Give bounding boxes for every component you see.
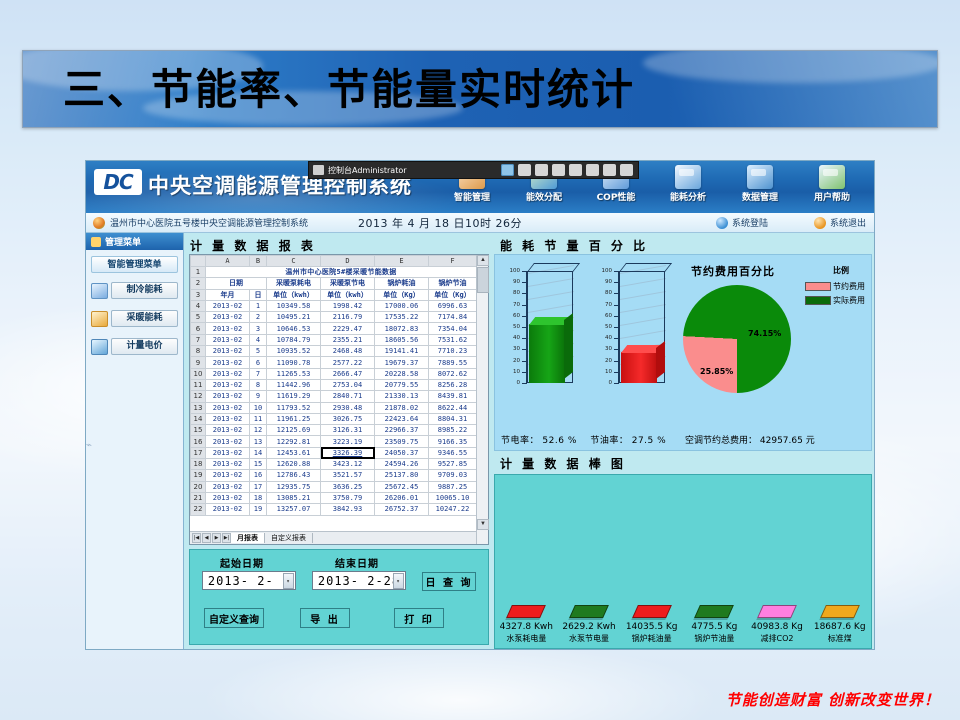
app-logo: DC xyxy=(94,169,142,195)
system-login-button[interactable]: 系统登陆 xyxy=(716,216,768,229)
total-savings-annotation: 空调节约总费用： 42957.65 元 xyxy=(685,433,815,446)
table-row: 182013-021512620.883423.1224594.269527.8… xyxy=(191,459,477,470)
footer-slogan: 节能创造财富 创新改变世界！ xyxy=(726,689,940,710)
cell-pump-save[interactable]: 3223.19 xyxy=(321,436,375,447)
cell-boiler-save[interactable]: 9166.35 xyxy=(429,436,477,447)
metric-value-3: 4775.5 Kg xyxy=(683,622,746,632)
cell-day[interactable]: 1 xyxy=(250,300,267,311)
cell-pump-consume[interactable]: 10349.58 xyxy=(267,300,321,311)
metric-bar-2 xyxy=(632,605,672,618)
axis-tick-70: 70 xyxy=(599,302,612,308)
row-header-13[interactable]: 13 xyxy=(191,402,206,413)
sidebar-item-label-2: 计量电价 xyxy=(111,338,178,355)
login-icon xyxy=(716,217,728,229)
cell-boiler-save[interactable]: 9346.55 xyxy=(429,447,477,458)
row-header-1[interactable]: 1 xyxy=(191,267,206,278)
row-header-8[interactable]: 8 xyxy=(191,346,206,357)
axis-tick-50: 50 xyxy=(507,324,520,330)
cell-yearmonth[interactable]: 2013-02 xyxy=(206,357,250,368)
table-row: 72013-02410784.792355.2118605.567531.62 xyxy=(191,334,477,345)
monitor-view-icon[interactable] xyxy=(501,164,514,176)
cell-yearmonth[interactable]: 2013-02 xyxy=(206,368,250,379)
sidebar-item-label-1: 采暖能耗 xyxy=(111,310,178,327)
cell-boiler-save[interactable]: 7531.62 xyxy=(429,334,477,345)
cell-yearmonth[interactable]: 2013-02 xyxy=(206,447,250,458)
cell-yearmonth[interactable]: 2013-02 xyxy=(206,425,250,436)
fullscreen-icon[interactable] xyxy=(603,164,616,176)
electric-rate-label: 节电率： xyxy=(501,436,539,446)
slide-title-banner: 三、节能率、节能量实时统计 xyxy=(22,50,938,128)
cell-boiler-save[interactable]: 8256.28 xyxy=(429,379,477,390)
sheet-tab-custom[interactable]: 自定义报表 xyxy=(265,533,313,543)
percentage-charts-panel: 1009080706050403020100 10090807 xyxy=(494,254,872,451)
axis-tick-30: 30 xyxy=(599,346,612,352)
cell-boiler-save[interactable]: 8622.44 xyxy=(429,402,477,413)
end-date-label: 结束日期 xyxy=(335,555,379,570)
cell-day[interactable]: 2 xyxy=(250,312,267,323)
cell-day[interactable]: 18 xyxy=(250,492,267,503)
app-header: DC 中央空调能源管理控制系统 智能管理 能效分配 COP性能 能耗分析 xyxy=(86,161,874,213)
start-date-label: 起始日期 xyxy=(220,555,264,570)
cell-pump-save[interactable]: 2116.79 xyxy=(321,312,375,323)
heating-icon xyxy=(91,311,108,327)
legend-swatch-actual xyxy=(805,296,831,305)
cell-boiler-consume[interactable]: 26752.37 xyxy=(375,504,429,515)
cell-boiler-consume[interactable]: 17000.06 xyxy=(375,300,429,311)
cell-pump-save[interactable]: 3326.39 xyxy=(321,447,375,458)
end-date-value: 2013- 2-28 xyxy=(318,574,400,588)
end-date-input[interactable]: 2013- 2-28 ▾ xyxy=(312,571,406,590)
hdr-unit-e: 单位（Kg） xyxy=(375,289,429,300)
cell-boiler-save[interactable]: 6996.63 xyxy=(429,300,477,311)
cell-pump-consume[interactable]: 13085.21 xyxy=(267,492,321,503)
cell-yearmonth[interactable]: 2013-02 xyxy=(206,391,250,402)
next-sheet-icon[interactable]: ▶ xyxy=(212,533,221,543)
legend-label-actual: 实际费用 xyxy=(833,295,865,306)
pie-label-actual: 74.15% xyxy=(748,329,781,338)
user-help-icon xyxy=(819,165,845,189)
mouse-icon[interactable] xyxy=(518,164,531,176)
metric-bar-3 xyxy=(694,605,734,618)
sheet-tab-monthly[interactable]: 月报表 xyxy=(231,533,265,543)
cell-pump-consume[interactable]: 10646.53 xyxy=(267,323,321,334)
cell-pump-save[interactable]: 3636.25 xyxy=(321,481,375,492)
console-toolbar[interactable]: 控制台Administrator xyxy=(308,161,639,179)
cell-day[interactable]: 6 xyxy=(250,357,267,368)
scroll-thumb[interactable] xyxy=(477,267,489,293)
cell-day[interactable]: 3 xyxy=(250,323,267,334)
cell-pump-save[interactable]: 2840.71 xyxy=(321,391,375,402)
cell-boiler-consume[interactable]: 21330.13 xyxy=(375,391,429,402)
metering-bar-panel: 4327.8 Kwh水泵耗电量2629.2 Kwh水泵节电量14035.5 Kg… xyxy=(494,474,872,649)
nav-item-user-help[interactable]: 用户帮助 xyxy=(796,163,868,203)
bar1-front xyxy=(529,324,565,383)
cell-boiler-consume[interactable]: 24050.37 xyxy=(375,447,429,458)
row-header-5[interactable]: 5 xyxy=(191,312,206,323)
metric-item: 14035.5 Kg锅炉耗油量 xyxy=(620,605,683,644)
cell-pump-consume[interactable]: 11090.78 xyxy=(267,357,321,368)
scroll-up-arrow[interactable]: ▲ xyxy=(477,255,489,266)
sidebar-item-cooling[interactable]: 制冷能耗 xyxy=(91,282,178,299)
print-button[interactable]: 打 印 xyxy=(394,608,444,628)
cell-day[interactable]: 11 xyxy=(250,413,267,424)
bottom-panel-title: 计 量 数 据 棒 图 xyxy=(500,455,626,472)
logout-label: 系统退出 xyxy=(830,216,866,229)
row-header-7[interactable]: 7 xyxy=(191,334,206,345)
cell-pump-consume[interactable]: 12620.88 xyxy=(267,459,321,470)
hdr-unit-d: 单位（kwh） xyxy=(321,289,375,300)
hdr-boiler-save: 锅炉节油 xyxy=(429,278,477,289)
legend-item-saving: 节约费用 xyxy=(805,281,865,292)
nav-label-5: 用户帮助 xyxy=(796,190,868,203)
cell-pump-save[interactable]: 2468.48 xyxy=(321,346,375,357)
row-header-10[interactable]: 10 xyxy=(191,368,206,379)
cell-yearmonth[interactable]: 2013-02 xyxy=(206,346,250,357)
system-logout-button[interactable]: 系统退出 xyxy=(814,216,866,229)
table-row: 42013-02110349.581998.4217000.066996.63 xyxy=(191,300,477,311)
bar1-side xyxy=(564,313,573,379)
col-letter-b[interactable]: B xyxy=(250,256,267,267)
axis-tick-80: 80 xyxy=(507,290,520,296)
spreadsheet[interactable]: A B C D E F 1 温州市中心医院5#楼采暖节能数据 2 xyxy=(189,254,489,545)
page-title: 三、节能率、节能量实时统计 xyxy=(23,51,937,128)
nav-label-2: COP性能 xyxy=(580,190,652,203)
cell-pump-save[interactable]: 2666.47 xyxy=(321,368,375,379)
system-datetime: 2013 年 4 月 18 日10时 26分 xyxy=(358,215,522,231)
system-ball-icon xyxy=(93,217,105,229)
metric-item: 18687.6 Kg标准煤 xyxy=(808,605,871,644)
cell-yearmonth[interactable]: 2013-02 xyxy=(206,379,250,390)
first-sheet-icon[interactable]: |◀ xyxy=(192,533,201,543)
cell-pump-consume[interactable]: 11961.25 xyxy=(267,413,321,424)
cell-boiler-consume[interactable]: 19679.37 xyxy=(375,357,429,368)
cell-pump-save[interactable]: 3750.79 xyxy=(321,492,375,503)
row-header-16[interactable]: 16 xyxy=(191,436,206,447)
cell-pump-consume[interactable]: 12453.61 xyxy=(267,447,321,458)
metric-item: 40983.8 Kg减排CO2 xyxy=(746,605,809,644)
axis-tick-0: 0 xyxy=(599,380,612,386)
metric-value-5: 18687.6 Kg xyxy=(808,622,871,632)
scroll-down-arrow[interactable]: ▼ xyxy=(477,519,489,530)
oil-rate-unit: % xyxy=(657,436,666,446)
cell-pump-save[interactable]: 3026.75 xyxy=(321,413,375,424)
cell-boiler-consume[interactable]: 18605.56 xyxy=(375,334,429,345)
metric-value-4: 40983.8 Kg xyxy=(746,622,809,632)
export-button[interactable]: 导 出 xyxy=(300,608,350,628)
cell-boiler-save[interactable]: 7174.84 xyxy=(429,312,477,323)
cell-pump-consume[interactable]: 12292.81 xyxy=(267,436,321,447)
table-row: 192013-021612786.433521.5725137.809709.0… xyxy=(191,470,477,481)
cell-boiler-consume[interactable]: 25137.80 xyxy=(375,470,429,481)
total-savings-value: 42957.65 xyxy=(760,436,803,446)
table-row: 132013-021011793.522930.4821878.028622.4… xyxy=(191,402,477,413)
cell-pump-save[interactable]: 3842.93 xyxy=(321,504,375,515)
rate-annotations: 节电率： 52.6 % 节油率： 27.5 % xyxy=(501,433,666,446)
last-sheet-icon[interactable]: ▶| xyxy=(222,533,231,543)
metric-caption-5: 标准煤 xyxy=(808,633,871,644)
legend-label-saving: 节约费用 xyxy=(833,281,865,292)
axis-tick-40: 40 xyxy=(507,335,520,341)
cell-day[interactable]: 7 xyxy=(250,368,267,379)
metric-bar-5 xyxy=(820,605,860,618)
axis-tick-90: 90 xyxy=(507,279,520,285)
col-letter-d[interactable]: D xyxy=(321,256,375,267)
report-table: A B C D E F 1 温州市中心医院5#楼采暖节能数据 2 xyxy=(190,255,477,516)
metric-caption-2: 锅炉耗油量 xyxy=(620,633,683,644)
cell-day[interactable]: 8 xyxy=(250,379,267,390)
cell-day[interactable]: 5 xyxy=(250,346,267,357)
speaker-icon[interactable] xyxy=(620,164,633,176)
cell-day[interactable]: 14 xyxy=(250,447,267,458)
custom-query-button[interactable]: 自定义查询 xyxy=(204,608,264,628)
hdr-pump-consume: 采暖泵耗电 xyxy=(267,278,321,289)
row-header-3[interactable]: 3 xyxy=(191,289,206,300)
cell-yearmonth[interactable]: 2013-02 xyxy=(206,402,250,413)
cell-boiler-consume[interactable]: 23509.75 xyxy=(375,436,429,447)
cell-pump-save[interactable]: 3423.12 xyxy=(321,459,375,470)
cell-boiler-save[interactable]: 8439.81 xyxy=(429,391,477,402)
charts-panel-title: 能 耗 节 量 百 分 比 xyxy=(494,233,874,256)
cell-day[interactable]: 9 xyxy=(250,391,267,402)
move-icon[interactable] xyxy=(569,164,582,176)
cell-boiler-save[interactable]: 7889.55 xyxy=(429,357,477,368)
table-row: 202013-021712935.753636.2525672.459887.2… xyxy=(191,481,477,492)
row-header-17[interactable]: 17 xyxy=(191,447,206,458)
cell-day[interactable]: 15 xyxy=(250,459,267,470)
table-row: 1 温州市中心医院5#楼采暖节能数据 xyxy=(191,267,477,278)
cell-yearmonth[interactable]: 2013-02 xyxy=(206,504,250,515)
prev-sheet-icon[interactable]: ◀ xyxy=(202,533,211,543)
legend-item-actual: 实际费用 xyxy=(805,295,865,306)
cell-boiler-consume[interactable]: 18072.83 xyxy=(375,323,429,334)
cell-boiler-consume[interactable]: 26206.01 xyxy=(375,492,429,503)
spreadsheet-vertical-scrollbar[interactable]: ▲ ▼ xyxy=(476,255,488,544)
sidebar-item-metering-price[interactable]: 计量电价 xyxy=(91,338,178,355)
bar2-frame-top xyxy=(619,263,672,272)
metric-caption-1: 水泵节电量 xyxy=(558,633,621,644)
cell-boiler-save[interactable]: 10065.10 xyxy=(429,492,477,503)
start-date-spinner-icon[interactable]: ▾ xyxy=(283,573,294,589)
cell-boiler-save[interactable]: 8804.31 xyxy=(429,413,477,424)
nav-label-0: 智能管理 xyxy=(436,190,508,203)
nav-label-3: 能耗分析 xyxy=(652,190,724,203)
table-row: 142013-021111961.253026.7522423.648804.3… xyxy=(191,413,477,424)
row-header-19[interactable]: 19 xyxy=(191,470,206,481)
cell-yearmonth[interactable]: 2013-02 xyxy=(206,459,250,470)
row-header-9[interactable]: 9 xyxy=(191,357,206,368)
row-header-21[interactable]: 21 xyxy=(191,492,206,503)
status-strip: 温州市中心医院五号楼中央空调能源管理控制系统 2013 年 4 月 18 日10… xyxy=(86,213,874,233)
cell-boiler-consume[interactable]: 20228.58 xyxy=(375,368,429,379)
cell-boiler-save[interactable]: 8985.22 xyxy=(429,425,477,436)
metric-bar-1 xyxy=(569,605,609,618)
cell-boiler-consume[interactable]: 17535.22 xyxy=(375,312,429,323)
cell-pump-save[interactable]: 2577.22 xyxy=(321,357,375,368)
cell-boiler-save[interactable]: 8072.62 xyxy=(429,368,477,379)
sidebar-header-label: 管理菜单 xyxy=(105,235,141,248)
cell-yearmonth[interactable]: 2013-02 xyxy=(206,300,250,311)
bar1-frame-top xyxy=(527,263,580,272)
cell-boiler-consume[interactable]: 22966.37 xyxy=(375,425,429,436)
sheet-tab-bar: |◀ ◀ ▶ ▶| 月报表 自定义报表 xyxy=(190,531,476,544)
console-title: 控制台Administrator xyxy=(328,165,407,176)
cell-pump-consume[interactable]: 10935.52 xyxy=(267,346,321,357)
table-row: 162013-021312292.813223.1923509.759166.3… xyxy=(191,436,477,447)
row-header-15[interactable]: 15 xyxy=(191,425,206,436)
row-header-4[interactable]: 4 xyxy=(191,300,206,311)
cell-boiler-save[interactable]: 9709.03 xyxy=(429,470,477,481)
cell-boiler-consume[interactable]: 25672.45 xyxy=(375,481,429,492)
cell-boiler-save[interactable]: 9527.85 xyxy=(429,459,477,470)
table-column-letters: A B C D E F xyxy=(191,256,477,267)
cell-pump-save[interactable]: 2753.04 xyxy=(321,379,375,390)
cell-pump-consume[interactable]: 12786.43 xyxy=(267,470,321,481)
row-header-6[interactable]: 6 xyxy=(191,323,206,334)
cell-pump-consume[interactable]: 11619.29 xyxy=(267,391,321,402)
day-query-button[interactable]: 日 查 询 xyxy=(422,572,476,591)
row-header-11[interactable]: 11 xyxy=(191,379,206,390)
table-row: 222013-021913257.073842.9326752.3710247.… xyxy=(191,504,477,515)
cell-pump-save[interactable]: 1998.42 xyxy=(321,300,375,311)
cell-yearmonth[interactable]: 2013-02 xyxy=(206,323,250,334)
cell-yearmonth[interactable]: 2013-02 xyxy=(206,492,250,503)
login-label: 系统登陆 xyxy=(732,216,768,229)
cell-pump-consume[interactable]: 12125.69 xyxy=(267,425,321,436)
folder-icon[interactable] xyxy=(535,164,548,176)
cell-yearmonth[interactable]: 2013-02 xyxy=(206,481,250,492)
cell-day[interactable]: 17 xyxy=(250,481,267,492)
sheet-nav-buttons: |◀ ◀ ▶ ▶| xyxy=(190,533,231,543)
cell-pump-save[interactable]: 2229.47 xyxy=(321,323,375,334)
cell-boiler-consume[interactable]: 20779.55 xyxy=(375,379,429,390)
metric-caption-0: 水泵耗电量 xyxy=(495,633,558,644)
cell-boiler-save[interactable]: 10247.22 xyxy=(429,504,477,515)
axis-tick-90: 90 xyxy=(599,279,612,285)
app-body: 管理菜单 智能管理菜单 制冷能耗 采暖能耗 计量电价 xyxy=(86,233,874,650)
cell-boiler-save[interactable]: 9887.25 xyxy=(429,481,477,492)
cell-day[interactable]: 13 xyxy=(250,436,267,447)
axis-tick-60: 60 xyxy=(507,313,520,319)
metric-value-0: 4327.8 Kwh xyxy=(495,622,558,632)
cell-day[interactable]: 19 xyxy=(250,504,267,515)
table-row: 102013-02711265.532666.4720228.588072.62 xyxy=(191,368,477,379)
axis-tick-0: 0 xyxy=(507,380,520,386)
start-date-input[interactable]: 2013- 2- 1 ▾ xyxy=(202,571,296,590)
cell-yearmonth[interactable]: 2013-02 xyxy=(206,334,250,345)
nav-label-4: 数据管理 xyxy=(724,190,796,203)
row-header-18[interactable]: 18 xyxy=(191,459,206,470)
cell-yearmonth[interactable]: 2013-02 xyxy=(206,436,250,447)
table-row: 172013-021412453.613326.3924050.379346.5… xyxy=(191,447,477,458)
application-window: DC 中央空调能源管理控制系统 智能管理 能效分配 COP性能 能耗分析 xyxy=(85,160,875,650)
col-letter-a[interactable]: A xyxy=(206,256,250,267)
app-logo-text: DC xyxy=(103,170,132,194)
row-header-12[interactable]: 12 xyxy=(191,391,206,402)
cell-pump-consume[interactable]: 12935.75 xyxy=(267,481,321,492)
cell-pump-consume[interactable]: 11793.52 xyxy=(267,402,321,413)
cell-boiler-consume[interactable]: 22423.64 xyxy=(375,413,429,424)
energy-analysis-icon xyxy=(675,165,701,189)
metrics-row: 4327.8 Kwh水泵耗电量2629.2 Kwh水泵节电量14035.5 Kg… xyxy=(495,605,871,644)
cell-pump-save[interactable]: 3521.57 xyxy=(321,470,375,481)
table-row: 2 日期 采暖泵耗电 采暖泵节电 锅炉耗油 锅炉节油 xyxy=(191,278,477,289)
cell-pump-save[interactable]: 3126.31 xyxy=(321,425,375,436)
sidebar-item-heating[interactable]: 采暖能耗 xyxy=(91,310,178,327)
hand-icon[interactable] xyxy=(586,164,599,176)
table-row: 122013-02911619.292840.7121330.138439.81 xyxy=(191,391,477,402)
savings-pie-chart xyxy=(683,285,791,393)
cell-boiler-save[interactable]: 7710.23 xyxy=(429,346,477,357)
bar1-green xyxy=(529,324,565,383)
col-letter-e[interactable]: E xyxy=(375,256,429,267)
start-date-value: 2013- 2- 1 xyxy=(208,574,290,588)
metric-item: 2629.2 Kwh水泵节电量 xyxy=(558,605,621,644)
cell-pump-consume[interactable]: 11265.53 xyxy=(267,368,321,379)
cell-day[interactable]: 10 xyxy=(250,402,267,413)
cell-boiler-consume[interactable]: 24594.26 xyxy=(375,459,429,470)
cell-pump-consume[interactable]: 10784.79 xyxy=(267,334,321,345)
cell-day[interactable]: 16 xyxy=(250,470,267,481)
nav-item-data-management[interactable]: 数据管理 xyxy=(724,163,796,203)
axis-tickmark xyxy=(522,383,527,384)
cell-pump-consume[interactable]: 11442.96 xyxy=(267,379,321,390)
table-row: 212013-021813085.213750.7926206.0110065.… xyxy=(191,492,477,503)
sidebar: 管理菜单 智能管理菜单 制冷能耗 采暖能耗 计量电价 xyxy=(86,233,184,650)
metric-item: 4327.8 Kwh水泵耗电量 xyxy=(495,605,558,644)
nav-label-1: 能效分配 xyxy=(508,190,580,203)
row-header-14[interactable]: 14 xyxy=(191,413,206,424)
corner-cell xyxy=(191,256,206,267)
end-date-spinner-icon[interactable]: ▾ xyxy=(393,573,404,589)
console-tool-icons xyxy=(501,164,638,176)
session-links: 系统登陆 系统退出 xyxy=(716,216,866,229)
axis-tick-10: 10 xyxy=(507,369,520,375)
cell-pump-consume[interactable]: 13257.07 xyxy=(267,504,321,515)
charts-column: 能 耗 节 量 百 分 比 1009080706050403020100 xyxy=(494,233,874,650)
cell-pump-save[interactable]: 2355.21 xyxy=(321,334,375,345)
axis-tick-20: 20 xyxy=(599,358,612,364)
row-header-2[interactable]: 2 xyxy=(191,278,206,289)
axis-tick-10: 10 xyxy=(599,369,612,375)
pointer-icon[interactable] xyxy=(552,164,565,176)
nav-item-energy-analysis[interactable]: 能耗分析 xyxy=(652,163,724,203)
cell-yearmonth[interactable]: 2013-02 xyxy=(206,413,250,424)
metric-bar-4 xyxy=(757,605,797,618)
col-letter-c[interactable]: C xyxy=(267,256,321,267)
hdr-boiler-consume: 锅炉耗油 xyxy=(375,278,429,289)
system-name: 温州市中心医院五号楼中央空调能源管理控制系统 xyxy=(110,216,308,229)
cell-boiler-consume[interactable]: 19141.41 xyxy=(375,346,429,357)
cell-yearmonth[interactable]: 2013-02 xyxy=(206,470,250,481)
col-letter-f[interactable]: F xyxy=(429,256,477,267)
metering-price-icon xyxy=(91,339,108,355)
cell-pump-consume[interactable]: 10495.21 xyxy=(267,312,321,323)
cell-boiler-consume[interactable]: 21878.02 xyxy=(375,402,429,413)
cell-yearmonth[interactable]: 2013-02 xyxy=(206,312,250,323)
legend-swatch-saving xyxy=(805,282,831,291)
monitor-icon xyxy=(313,165,324,175)
cell-day[interactable]: 12 xyxy=(250,425,267,436)
row-header-20[interactable]: 20 xyxy=(191,481,206,492)
cooling-icon xyxy=(91,283,108,299)
hdr-date: 日期 xyxy=(206,278,267,289)
cell-boiler-save[interactable]: 7354.04 xyxy=(429,323,477,334)
row-header-22[interactable]: 22 xyxy=(191,504,206,515)
cell-day[interactable]: 4 xyxy=(250,334,267,345)
hdr-pump-save: 采暖泵节电 xyxy=(321,278,375,289)
axis-tick-40: 40 xyxy=(599,335,612,341)
cell-pump-save[interactable]: 2930.48 xyxy=(321,402,375,413)
